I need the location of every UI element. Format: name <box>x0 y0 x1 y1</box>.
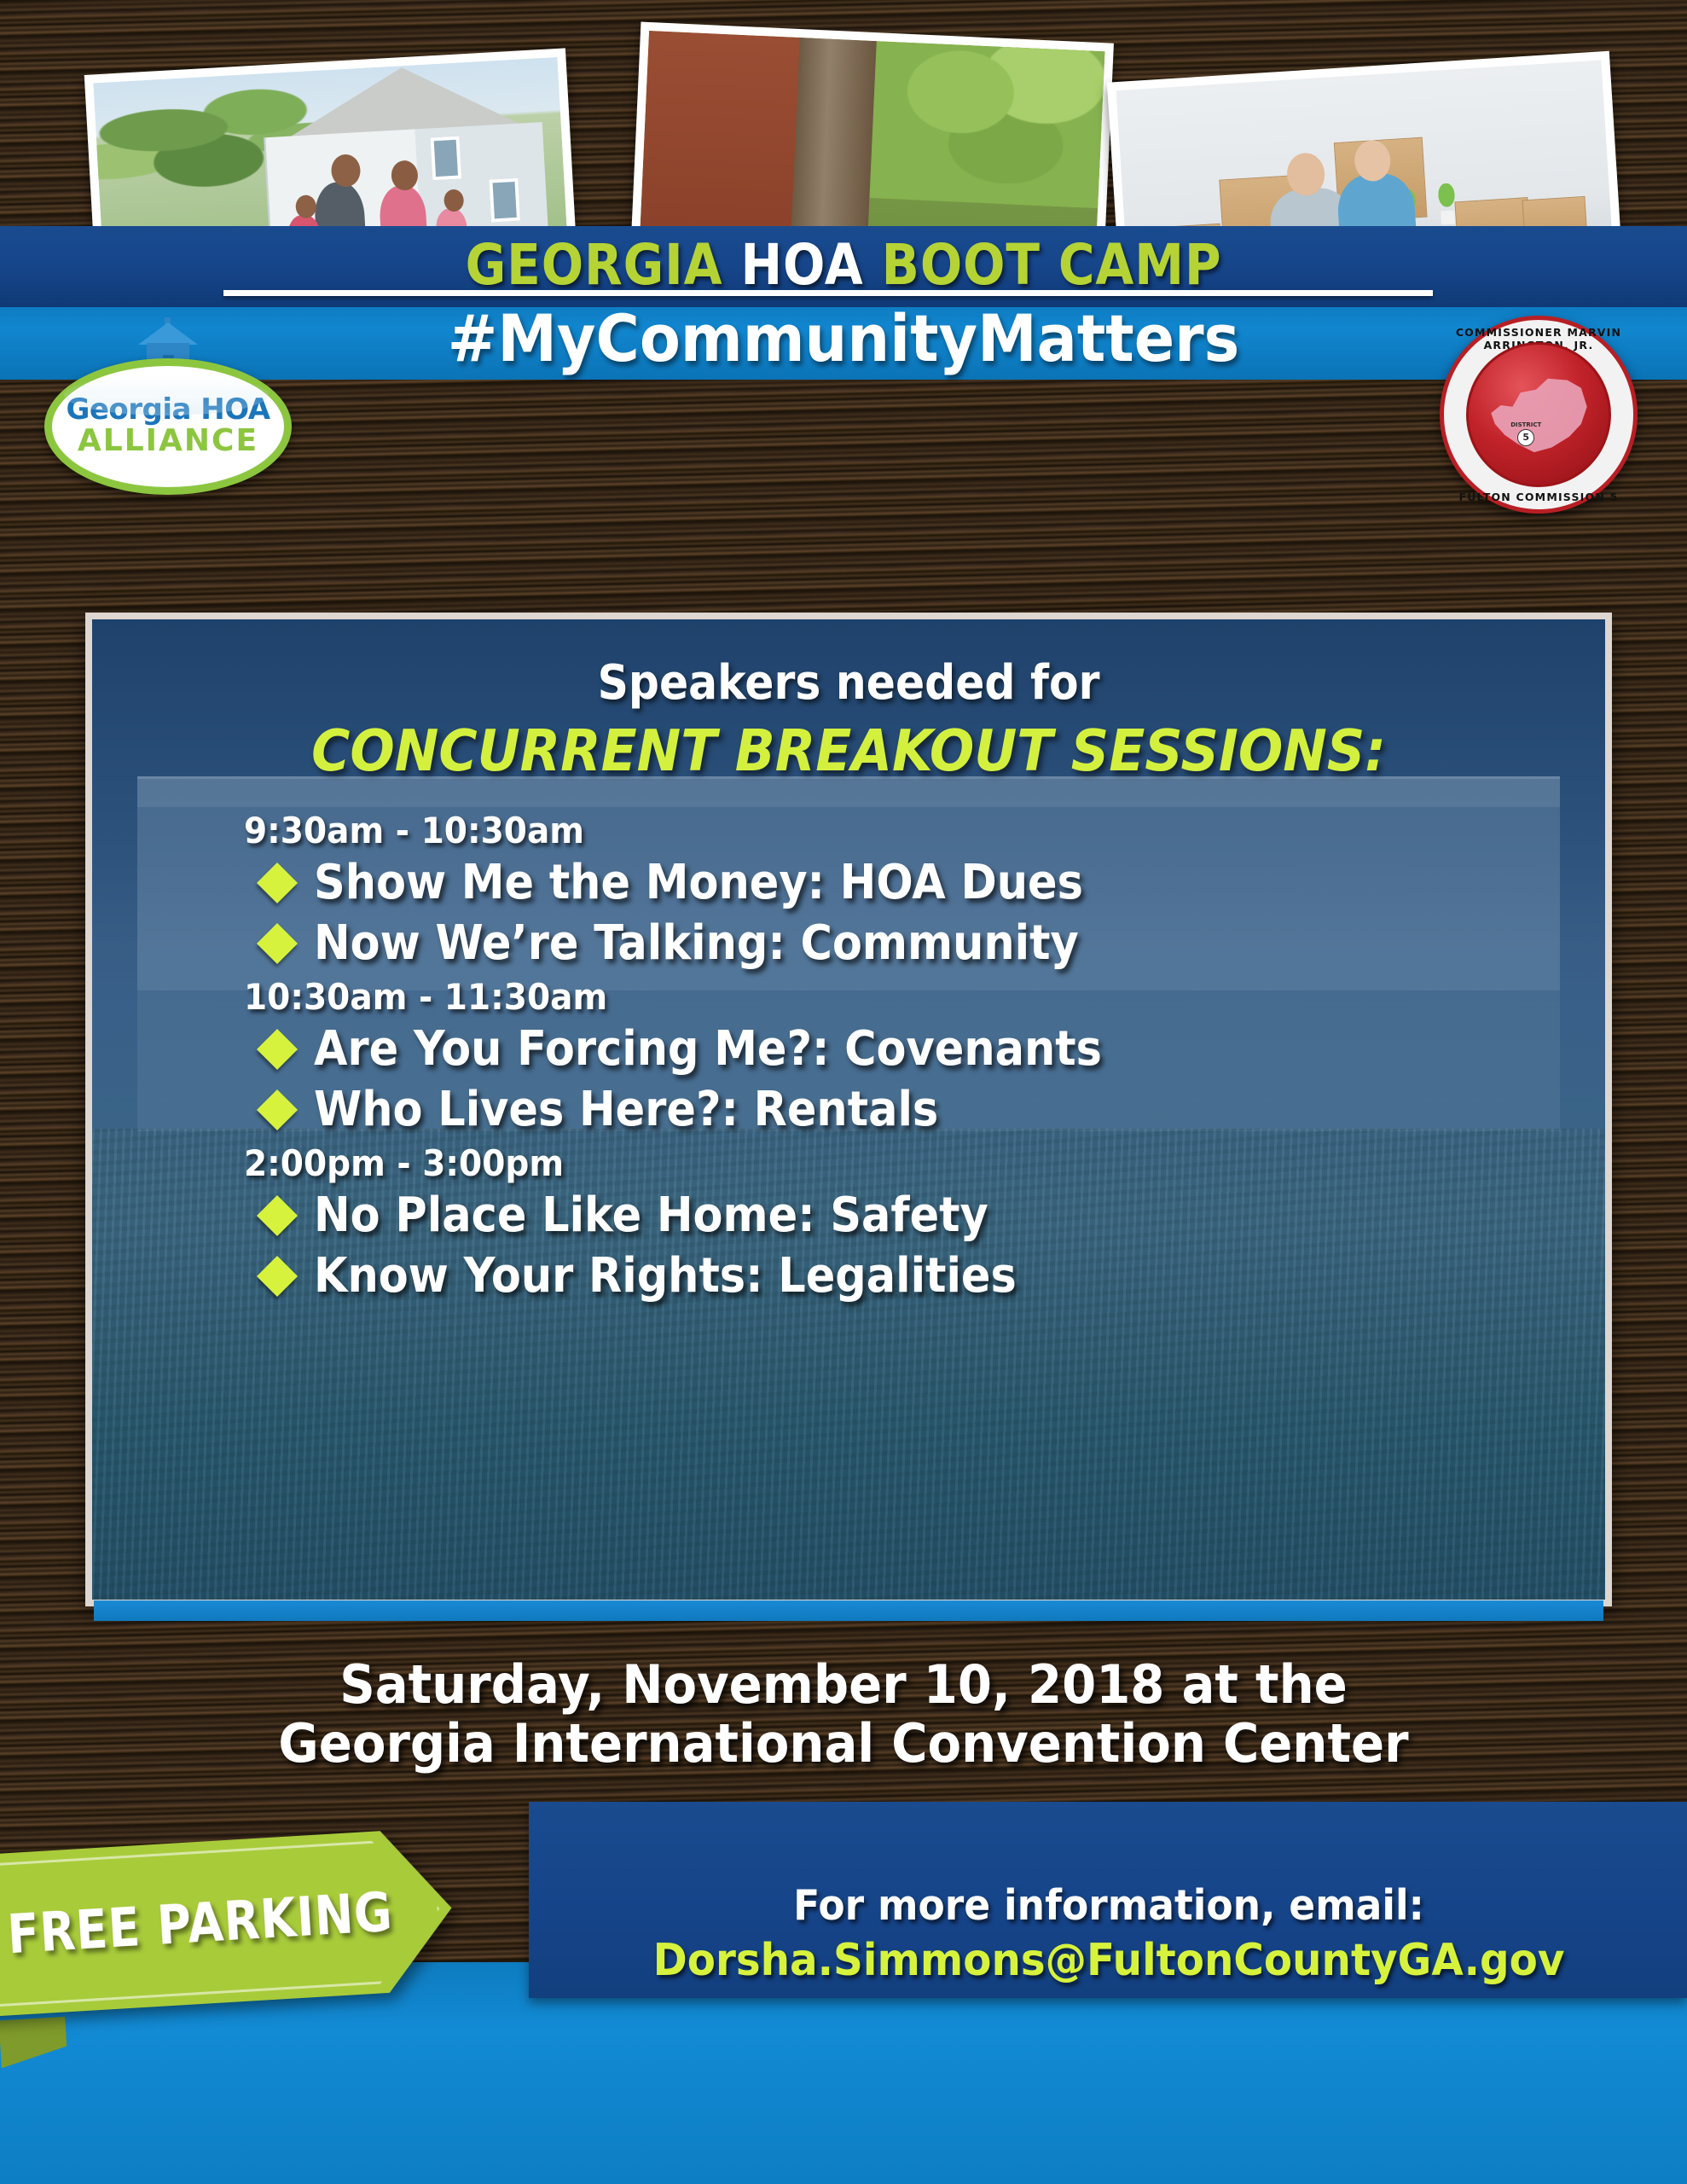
page-title: GEORGIA HOA BOOT CAMP <box>101 232 1586 298</box>
session-item: Are You Forcing Me?: Covenants <box>263 1021 1605 1077</box>
session-block: 10:30am - 11:30am Are You Forcing Me?: C… <box>244 976 1605 1137</box>
contact-email[interactable]: Dorsha.Simmons@FultonCountyGA.gov <box>585 1935 1632 1986</box>
diamond-bullet-icon <box>257 922 298 963</box>
diamond-bullet-icon <box>257 1255 298 1296</box>
session-item: Show Me the Money: HOA Dues <box>263 855 1605 910</box>
flyer-page: GEORGIA HOA BOOT CAMP #MyCommunityMatter… <box>0 0 1687 2184</box>
session-item: No Place Like Home: Safety <box>263 1188 1605 1243</box>
session-item: Now We’re Talking: Community <box>263 915 1605 971</box>
title-part-hoa: HOA <box>741 232 882 298</box>
panel-bottom-bar <box>94 1600 1603 1621</box>
session-title: Know Your Rights: Legalities <box>314 1248 1017 1304</box>
title-part-georgia: GEORGIA <box>466 232 741 298</box>
event-date: Saturday, November 10, 2018 at the <box>59 1655 1628 1714</box>
session-block: 9:30am - 10:30am Show Me the Money: HOA … <box>244 810 1605 971</box>
session-time: 9:30am - 10:30am <box>244 810 1510 851</box>
speakers-needed-text: Speakers needed for <box>168 655 1530 711</box>
session-title: Now We’re Talking: Community <box>314 915 1079 971</box>
commissioner-seal: COMMISSIONER MARVIN ARRINGTON, JR. FULTO… <box>1440 316 1638 514</box>
hashtag-text: #MyCommunityMatters <box>67 300 1620 376</box>
title-divider <box>223 290 1433 296</box>
session-title: Show Me the Money: HOA Dues <box>314 855 1083 910</box>
photo-strip <box>0 0 1687 256</box>
title-part-bootcamp: BOOT CAMP <box>882 232 1222 298</box>
session-title: No Place Like Home: Safety <box>314 1188 988 1243</box>
footer-contact-text: For more information, email: Dorsha.Simm… <box>546 1881 1672 1986</box>
georgia-hoa-alliance-logo: Georgia HOA ALLIANCE <box>44 317 292 514</box>
district-label: DISTRICT <box>1510 421 1541 428</box>
seal-inner-disc: DISTRICT 5 <box>1466 342 1611 487</box>
district-number: 5 <box>1517 429 1534 446</box>
free-parking-ribbon: FREE PARKING <box>0 1827 456 2018</box>
main-content-panel: Speakers needed for CONCURRENT BREAKOUT … <box>85 613 1612 1606</box>
event-venue: Georgia International Convention Center <box>59 1714 1628 1773</box>
session-time: 10:30am - 11:30am <box>244 976 1510 1018</box>
diamond-bullet-icon <box>257 862 298 903</box>
session-item: Who Lives Here?: Rentals <box>263 1082 1605 1137</box>
sessions-heading: CONCURRENT BREAKOUT SESSIONS: <box>153 717 1545 784</box>
logo-line-2: ALLIANCE <box>78 424 258 458</box>
event-date-venue: Saturday, November 10, 2018 at the Georg… <box>0 1655 1687 1774</box>
seal-bottom-text: FULTON COMMISSION 5 <box>1444 491 1633 503</box>
diamond-bullet-icon <box>257 1028 298 1069</box>
session-title: Are You Forcing Me?: Covenants <box>314 1021 1102 1077</box>
session-item: Know Your Rights: Legalities <box>263 1248 1605 1304</box>
session-time: 2:00pm - 3:00pm <box>244 1142 1510 1184</box>
district-badge: DISTRICT 5 <box>1510 421 1541 446</box>
diamond-bullet-icon <box>257 1194 298 1235</box>
contact-label: For more information, email: <box>585 1881 1632 1930</box>
session-title: Who Lives Here?: Rentals <box>314 1082 938 1137</box>
logo-line-1: Georgia HOA <box>66 395 270 424</box>
session-block: 2:00pm - 3:00pm No Place Like Home: Safe… <box>244 1142 1605 1304</box>
diamond-bullet-icon <box>257 1089 298 1130</box>
logo-oval: Georgia HOA ALLIANCE <box>44 358 292 495</box>
session-blocks: 9:30am - 10:30am Show Me the Money: HOA … <box>92 810 1605 1304</box>
free-parking-label: FREE PARKING <box>6 1880 395 1966</box>
